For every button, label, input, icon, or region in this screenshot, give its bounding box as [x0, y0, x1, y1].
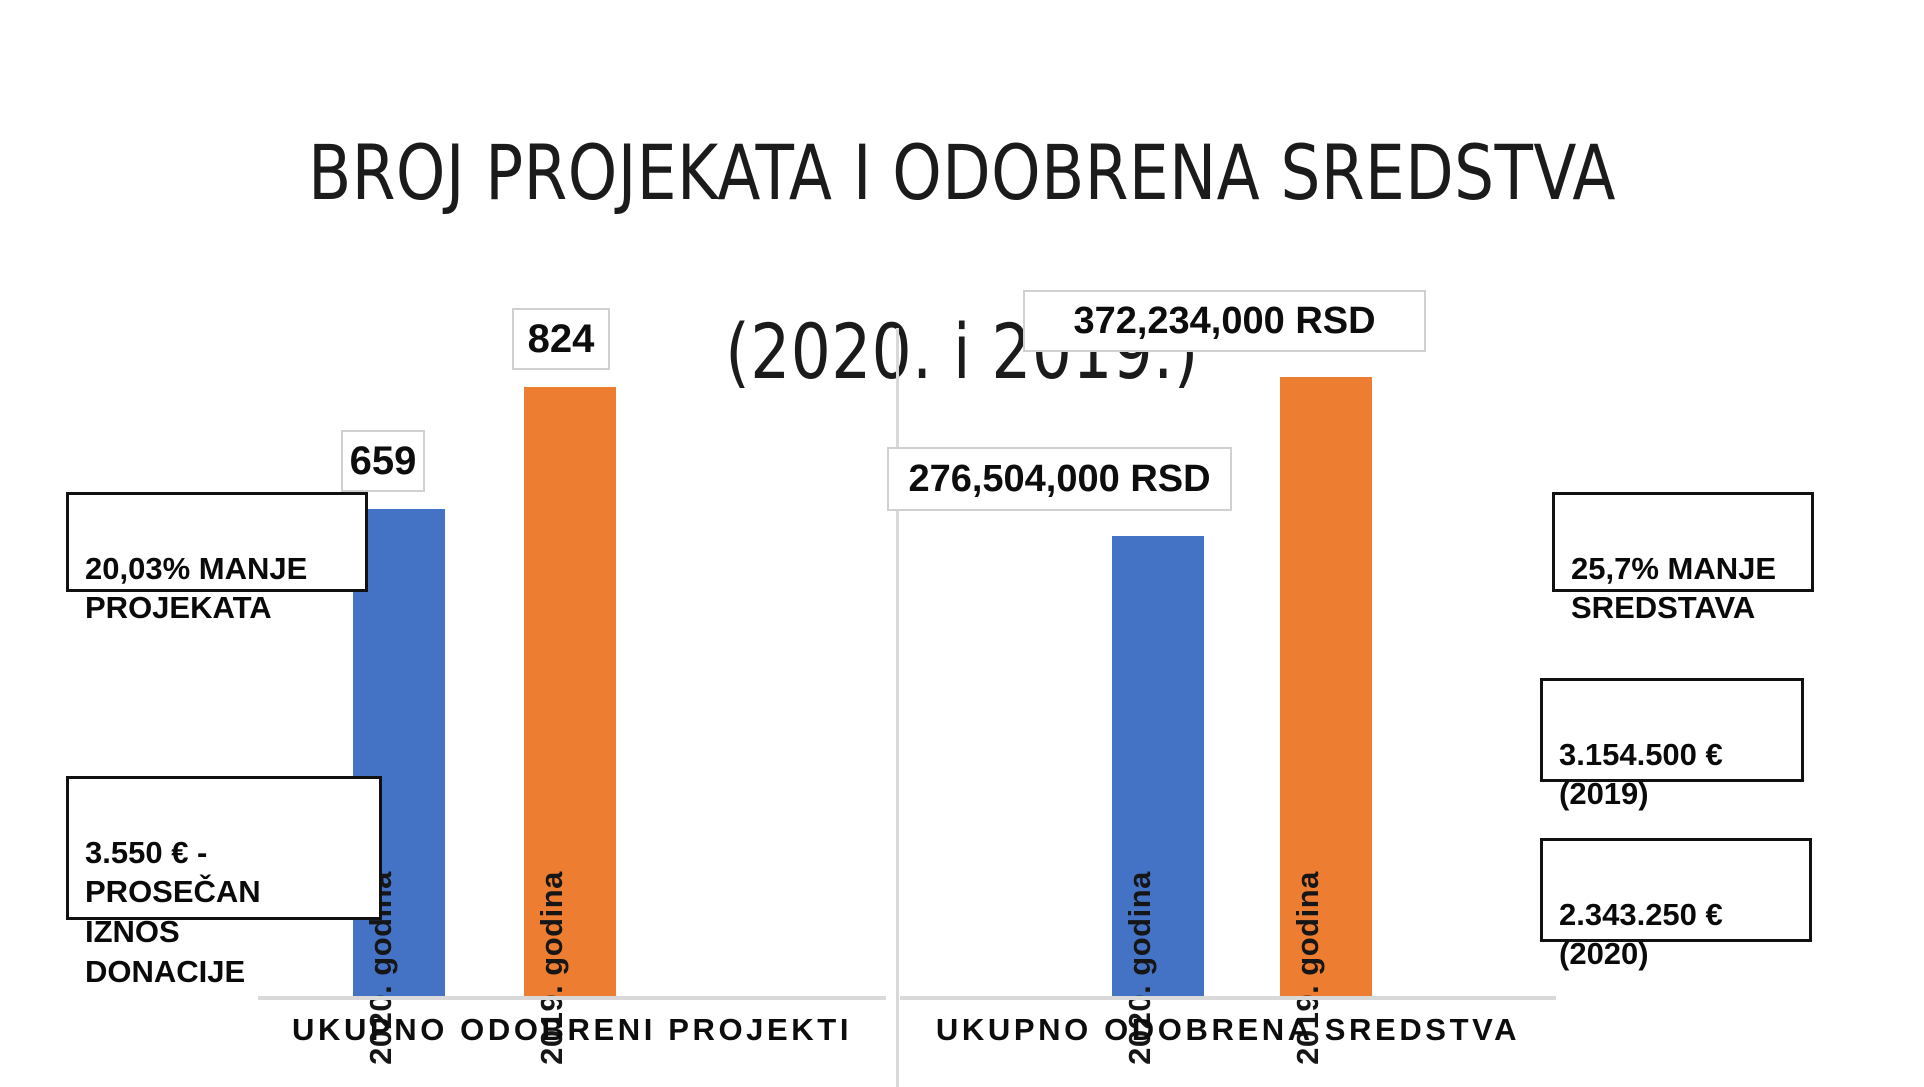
page-title-line-1: BROJ PROJEKATA I ODOBRENA SREDSTVA [187, 128, 1736, 218]
bar-projects-2019[interactable]: 2019. godina [524, 387, 616, 996]
note-average-donation: 3.550 € - PROSEČAN IZNOS DONACIJE [66, 776, 382, 920]
bar-funds-2020[interactable]: 2020. godina [1112, 536, 1204, 996]
bar-group-funds: 2020. godina 2019. godina [900, 331, 1556, 996]
value-label-funds-2020: 276,504,000 RSD [887, 447, 1232, 511]
value-label-projects-2020: 659 [341, 430, 425, 492]
value-label-projects-2019: 824 [512, 308, 610, 370]
note-eur-2019: 3.154.500 € (2019) [1540, 678, 1804, 782]
chart-panel-funds: 2020. godina 2019. godina 276,504,000 RS… [900, 300, 1556, 1000]
axis-line-projects [258, 996, 886, 1000]
note-fewer-projects: 20,03% MANJE PROJEKATA [66, 492, 368, 592]
slide-canvas: BROJ PROJEKATA I ODOBRENA SREDSTVA (2020… [0, 0, 1924, 1087]
panel-divider [896, 328, 899, 1087]
category-label-funds: UKUPNO ODOBRENA SREDSTVA [900, 1012, 1556, 1048]
note-fewer-funds: 25,7% MANJE SREDSTAVA [1552, 492, 1814, 592]
bar-funds-2019[interactable]: 2019. godina [1280, 377, 1372, 996]
category-label-projects: UKUPNO ODOBRENI PROJEKTI [258, 1012, 886, 1048]
note-eur-2020: 2.343.250 € (2020) [1540, 838, 1812, 942]
axis-line-funds [900, 996, 1556, 1000]
value-label-funds-2019: 372,234,000 RSD [1023, 290, 1426, 352]
